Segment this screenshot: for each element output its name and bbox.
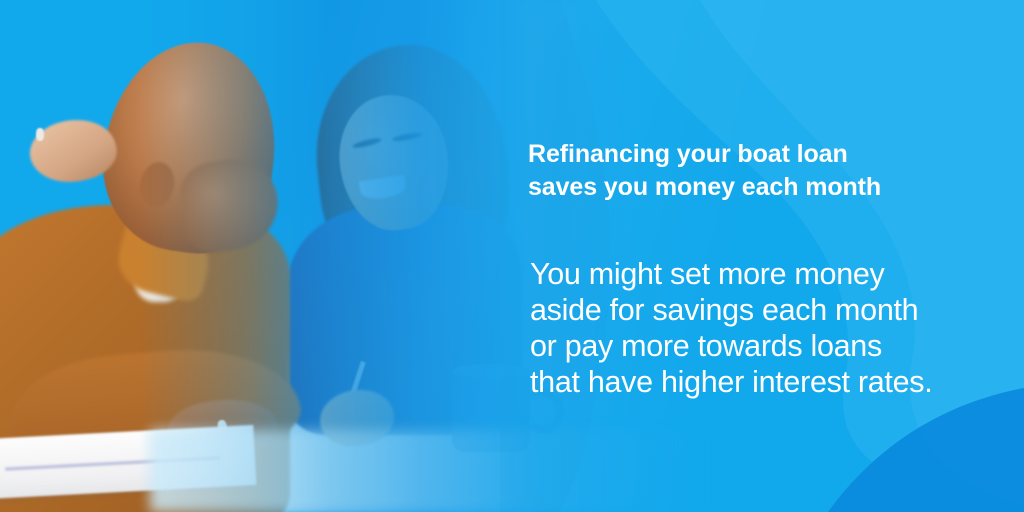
body-text: You might set more money aside for savin… bbox=[530, 256, 958, 400]
promo-banner: Refinancing your boat loan saves you mon… bbox=[0, 0, 1024, 512]
headline: Refinancing your boat loan saves you mon… bbox=[528, 138, 958, 204]
banner-copy: Refinancing your boat loan saves you mon… bbox=[528, 138, 958, 400]
table-light-wash bbox=[150, 430, 710, 512]
